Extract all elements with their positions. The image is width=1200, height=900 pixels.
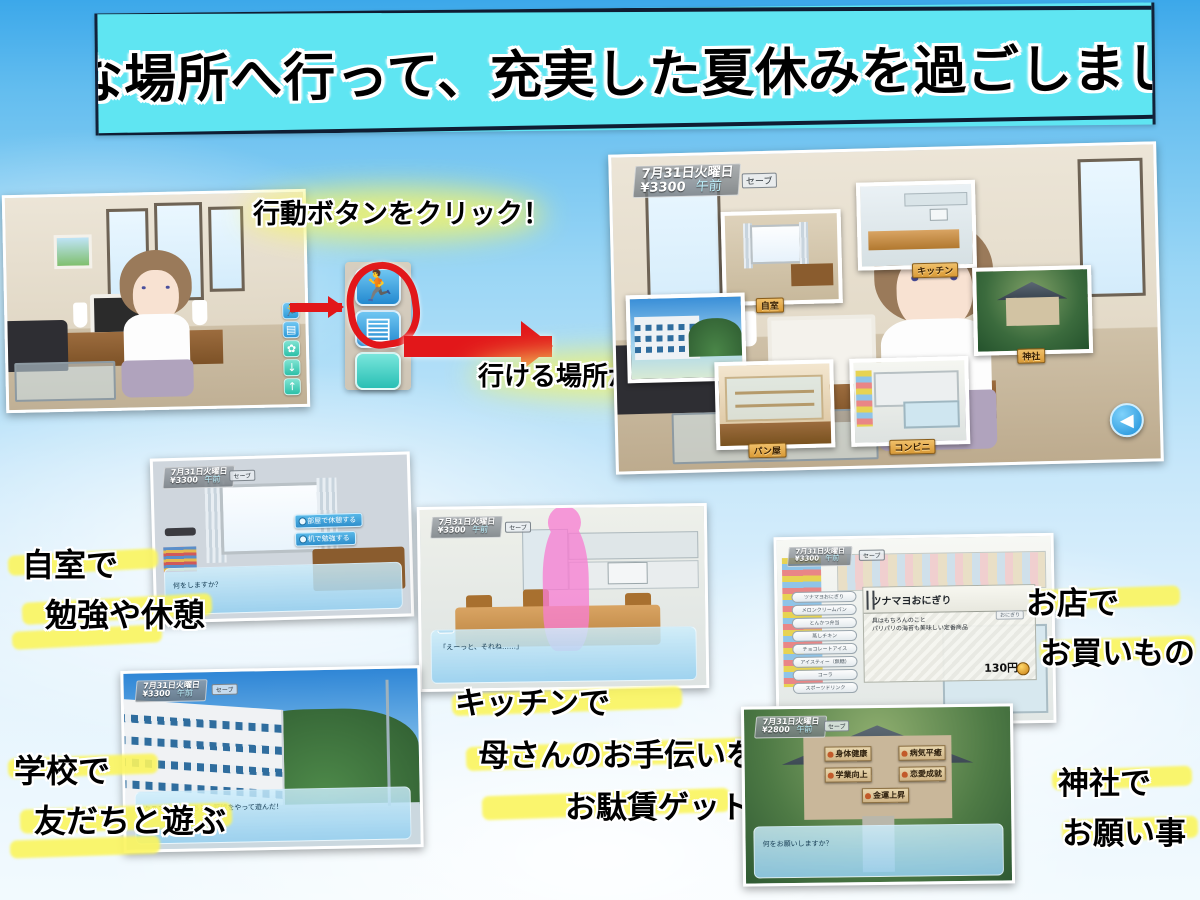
- location-thumb-bakery[interactable]: [714, 360, 835, 451]
- hud-time-store: 午前: [825, 555, 840, 563]
- shrine-dialogue-text: 何をお願いしますか？: [763, 839, 833, 848]
- save-tab-shrine[interactable]: セーブ: [824, 721, 850, 732]
- callout-click-action-button: 行動ボタンをクリック！: [253, 192, 550, 231]
- caption-store-line2: お買いもの: [1040, 628, 1195, 673]
- bakery-case: [725, 375, 824, 422]
- store-item[interactable]: チョコレートアイス: [792, 642, 858, 654]
- download-icon[interactable]: ↓: [283, 359, 300, 376]
- eye-left: [142, 286, 146, 290]
- glass-table: [14, 361, 116, 401]
- save-tab-bedroom[interactable]: セーブ: [229, 470, 255, 482]
- location-thumb-conbini[interactable]: [849, 356, 970, 447]
- school-window-row-1: [120, 714, 281, 733]
- save-tab-school[interactable]: セーブ: [212, 684, 238, 695]
- shrine-body-thumb: [1005, 297, 1059, 325]
- hud-money: ¥3300: [639, 180, 685, 196]
- wish-option-study[interactable]: 学業向上: [824, 767, 871, 783]
- skirt: [121, 359, 193, 398]
- location-label-bakery[interactable]: パン屋: [748, 442, 786, 458]
- thumb-art-conbini: [853, 360, 966, 443]
- wish-option-money[interactable]: 金運上昇: [862, 788, 909, 804]
- screenshot-location-select: 7月31日火曜日 ¥3300 午前 セーブ 自室 キッチン 神社: [608, 141, 1164, 474]
- screenshot-convenience-store: 7月31日火曜日 ¥3300 午前 セーブ ツナマヨおにぎり メロンクリームパン…: [774, 533, 1057, 727]
- red-arrow-large: [404, 336, 552, 357]
- bedroom-menu-study[interactable]: 机で勉強する: [295, 531, 356, 547]
- hud-money-kitchen: ¥3300: [438, 526, 467, 535]
- page-title-banner: いろんな場所へ行って、充実した夏休みを過ごしましょう！: [94, 2, 1155, 135]
- location-thumb-kitchen[interactable]: [856, 180, 977, 271]
- wall-picture: [53, 234, 92, 269]
- microwave: [929, 209, 947, 221]
- thumb-bed: [791, 263, 834, 286]
- store-description-line2: パリパリの海苔も美味しい定番商品: [872, 624, 968, 634]
- store-item[interactable]: 蒸しチキン: [792, 629, 858, 641]
- thumb-art-shrine: [976, 269, 1089, 352]
- save-tab-store[interactable]: セーブ: [859, 549, 885, 560]
- bedroom-menu-rest[interactable]: 部屋で休憩する: [294, 513, 362, 529]
- caption-bedroom-line2: 勉強や休憩: [45, 590, 205, 636]
- caption-kitchen-line1: キッチンで: [455, 678, 610, 723]
- caption-shrine-line2: お願い事: [1062, 808, 1186, 853]
- hud-status: 7月31日火曜日 ¥3300 午前: [632, 164, 741, 199]
- hud-time-shrine: 午前: [795, 725, 812, 734]
- desk-lamp: [165, 527, 196, 536]
- store-item[interactable]: コーラ: [792, 668, 858, 680]
- thumb-window: [750, 224, 802, 265]
- save-tab[interactable]: セーブ: [742, 172, 777, 188]
- bedroom-dialogue-text: 何をしますか？: [173, 580, 222, 589]
- wish-option-health[interactable]: 身体健康: [824, 746, 871, 762]
- wish-option-love[interactable]: 恋愛成就: [899, 766, 946, 782]
- upload-icon[interactable]: ↑: [284, 378, 301, 395]
- magazine-rack: [856, 371, 873, 427]
- kitchen-shelf: [905, 192, 968, 206]
- thumb-art-bakery: [718, 364, 831, 447]
- store-category-tag: おにぎり: [996, 610, 1024, 619]
- eye-right: [165, 286, 169, 290]
- gear-icon-zoomed[interactable]: [355, 352, 401, 390]
- kitchen-dialogue-box[interactable]: 母 「えーっと、それね……」: [430, 626, 698, 683]
- character-girl: [119, 249, 194, 395]
- kitchen-dialogue-text: 「えーっと、それね……」: [439, 643, 523, 652]
- hud-time-school: 午前: [176, 689, 193, 698]
- screenshot-kitchen: 7月31日火曜日 ¥3300 午前 セーブ 母 「えーっと、それね……」: [417, 503, 710, 692]
- hud-money-shrine: ¥2800: [761, 725, 790, 734]
- location-label-conbini[interactable]: コンビニ: [889, 439, 935, 455]
- vase-left: [73, 302, 88, 328]
- hud-time: 午前: [695, 179, 722, 195]
- hud-money-school: ¥3300: [142, 689, 171, 699]
- caption-store-line1: お店で: [1026, 578, 1119, 623]
- hud-status-school: 7月31日火曜日 ¥3300 午前: [134, 679, 207, 702]
- school-hill-thumb: [688, 317, 742, 357]
- kitchen-microwave: [608, 562, 648, 584]
- notebook-icon[interactable]: ▤: [282, 321, 299, 338]
- bakery-shelf-1: [735, 390, 814, 395]
- location-label-shrine[interactable]: 神社: [1017, 348, 1045, 364]
- caption-bedroom-line1: 自室で: [22, 540, 118, 586]
- store-item[interactable]: メロンクリームパン: [791, 603, 857, 615]
- store-price: 130円: [984, 659, 1018, 676]
- curtain-r: [799, 222, 809, 267]
- school-window-row-2: [120, 736, 281, 755]
- location-label-kitchen[interactable]: キッチン: [912, 262, 958, 278]
- store-item[interactable]: とんかつ弁当: [791, 616, 857, 628]
- location-thumb-bedroom[interactable]: [721, 209, 843, 306]
- caption-school-line1: 学校で: [14, 746, 110, 792]
- store-selected-item-title: ツナマヨおにぎり: [863, 585, 1034, 614]
- thumb-art-bedroom: [725, 213, 838, 302]
- caption-school-line2: 友だちと遊ぶ: [34, 796, 226, 842]
- hud-money-store: ¥3300: [794, 555, 819, 563]
- hud-status-shrine: 7月31日火曜日 ¥2800 午前: [754, 716, 827, 739]
- hud-money-bedroom: ¥3300: [170, 476, 199, 486]
- hud-time-bedroom: 午前: [204, 475, 221, 484]
- gear-icon[interactable]: ✿: [283, 340, 300, 357]
- shrine-dialogue-box[interactable]: 何をお願いしますか？: [753, 823, 1004, 878]
- action-icon-bar[interactable]: 🏃 ▤ ✿ ↓ ↑: [282, 302, 301, 395]
- caption-shrine-line1: 神社で: [1058, 758, 1151, 803]
- page-title: いろんな場所へ行って、充実した夏休みを過ごしましょう！: [94, 24, 1155, 114]
- window-right: [208, 206, 246, 292]
- dining-table: [868, 229, 960, 250]
- red-arrow-small: [290, 303, 342, 312]
- store-item[interactable]: アイスティー（無糖）: [792, 655, 858, 667]
- kitchen-upper-shelf: [568, 531, 699, 560]
- location-thumb-shrine[interactable]: [972, 265, 1093, 356]
- thumb-art-kitchen: [860, 184, 973, 267]
- hud-time-kitchen: 午前: [472, 526, 489, 535]
- wish-option-illness[interactable]: 病気平癒: [899, 745, 946, 761]
- hud-status-store: 7月31日火曜日 ¥3300 午前: [787, 546, 852, 567]
- hud-status-kitchen: 7月31日火曜日 ¥3300 午前: [430, 516, 503, 539]
- location-label-bedroom[interactable]: 自室: [756, 298, 784, 314]
- bakery-shelf-2: [735, 403, 814, 408]
- hud-status-bedroom: 7月31日火曜日 ¥3300 午前: [163, 466, 235, 490]
- conbini-case: [903, 400, 959, 429]
- store-item[interactable]: スポーツドリンク: [792, 681, 858, 693]
- coin-icon: [1017, 662, 1030, 675]
- store-item-list[interactable]: ツナマヨおにぎり メロンクリームパン とんかつ弁当 蒸しチキン チョコレートアイ…: [791, 590, 858, 693]
- save-tab-kitchen[interactable]: セーブ: [505, 521, 531, 532]
- screenshot-shrine: 7月31日火曜日 ¥2800 午前 セーブ 身体健康 病気平癒 学業向上 恋愛成…: [741, 703, 1015, 886]
- store-item[interactable]: ツナマヨおにぎり: [791, 590, 857, 602]
- store-item-detail-panel: ツナマヨおにぎり おにぎり 具はもちろんのこと パリパリの海苔も美味しい定番商品…: [862, 584, 1036, 682]
- vase-right: [192, 300, 207, 326]
